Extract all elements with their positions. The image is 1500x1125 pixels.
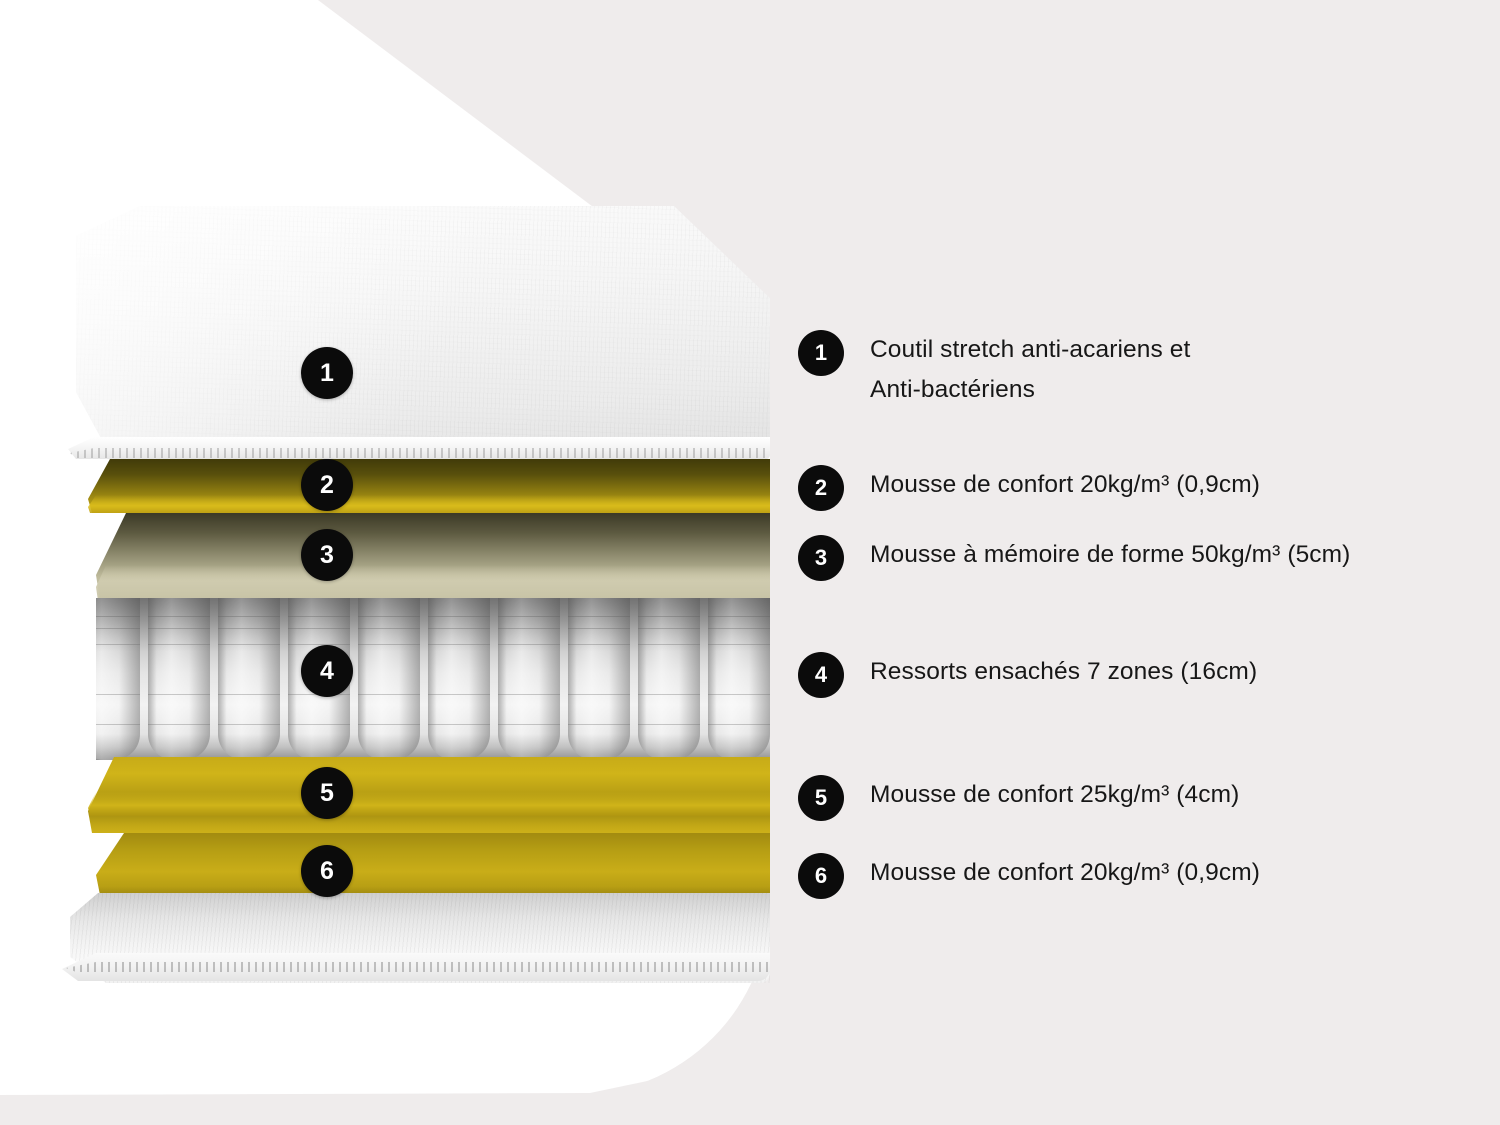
legend-label-1: Coutil stretch anti-acariens et Anti-bac… bbox=[870, 330, 1190, 410]
pocket-spring-ring bbox=[96, 694, 140, 695]
pocket-spring-ring bbox=[218, 694, 280, 695]
legend-label-4: Ressorts ensachés 7 zones (16cm) bbox=[870, 652, 1257, 692]
pocket-spring-ring bbox=[708, 724, 770, 725]
stack-badge-5: 5 bbox=[301, 767, 353, 819]
pocket-spring-ring bbox=[568, 724, 630, 725]
legend-badge-4: 4 bbox=[798, 652, 844, 698]
stack-badge-4: 4 bbox=[301, 645, 353, 697]
layer-3-foam-highlight bbox=[96, 565, 770, 601]
layer-6-comfort-foam bbox=[96, 833, 770, 895]
legend-item-5: 5Mousse de confort 25kg/m³ (4cm) bbox=[798, 775, 1239, 821]
pocket-spring-ring bbox=[568, 694, 630, 695]
layer-2-foam-highlight bbox=[88, 495, 770, 513]
pocket-spring-ring bbox=[498, 694, 560, 695]
pocket-spring-ring bbox=[148, 694, 210, 695]
layer-4-pocket-springs bbox=[96, 598, 770, 760]
infographic-canvas: 123456 1Coutil stretch anti-acariens et … bbox=[0, 0, 1500, 1125]
mattress-cross-section-image: 123456 bbox=[0, 0, 790, 1010]
pocket-spring-ring bbox=[428, 694, 490, 695]
legend-badge-1: 1 bbox=[798, 330, 844, 376]
legend-label-3: Mousse à mémoire de forme 50kg/m³ (5cm) bbox=[870, 535, 1350, 575]
legend-item-1: 1Coutil stretch anti-acariens et Anti-ba… bbox=[798, 330, 1190, 410]
pocket-spring-ring bbox=[638, 724, 700, 725]
legend-label-2: Mousse de confort 20kg/m³ (0,9cm) bbox=[870, 465, 1260, 505]
legend-item-3: 3Mousse à mémoire de forme 50kg/m³ (5cm) bbox=[798, 535, 1350, 581]
layer-1-cover-stitching bbox=[70, 448, 770, 458]
legend-badge-3: 3 bbox=[798, 535, 844, 581]
pocket-spring-ring bbox=[708, 694, 770, 695]
pocket-spring-ring bbox=[218, 724, 280, 725]
legend-badge-5: 5 bbox=[798, 775, 844, 821]
legend-item-2: 2Mousse de confort 20kg/m³ (0,9cm) bbox=[798, 465, 1260, 511]
legend-label-6: Mousse de confort 20kg/m³ (0,9cm) bbox=[870, 853, 1260, 893]
pocket-spring-ring bbox=[498, 724, 560, 725]
pocket-spring-ring bbox=[96, 724, 140, 725]
springs-top-shading bbox=[96, 598, 770, 652]
springs-bottom-shading bbox=[96, 734, 770, 760]
legend-item-6: 6Mousse de confort 20kg/m³ (0,9cm) bbox=[798, 853, 1260, 899]
layer-5-foam-highlight bbox=[88, 792, 770, 816]
pocket-spring-ring bbox=[288, 724, 350, 725]
legend-badge-2: 2 bbox=[798, 465, 844, 511]
pocket-spring-ring bbox=[428, 724, 490, 725]
pocket-spring-ring bbox=[358, 724, 420, 725]
legend-item-4: 4Ressorts ensachés 7 zones (16cm) bbox=[798, 652, 1257, 698]
stack-badge-2: 2 bbox=[301, 459, 353, 511]
stack-badge-1: 1 bbox=[301, 347, 353, 399]
pocket-spring-ring bbox=[358, 694, 420, 695]
pocket-spring-ring bbox=[638, 694, 700, 695]
legend-label-5: Mousse de confort 25kg/m³ (4cm) bbox=[870, 775, 1239, 815]
stack-badge-3: 3 bbox=[301, 529, 353, 581]
legend-badge-6: 6 bbox=[798, 853, 844, 899]
layer-1-cover-sheen bbox=[62, 192, 770, 454]
pocket-spring-ring bbox=[148, 724, 210, 725]
base-cover-stitching bbox=[66, 962, 770, 972]
stack-badge-6: 6 bbox=[301, 845, 353, 897]
